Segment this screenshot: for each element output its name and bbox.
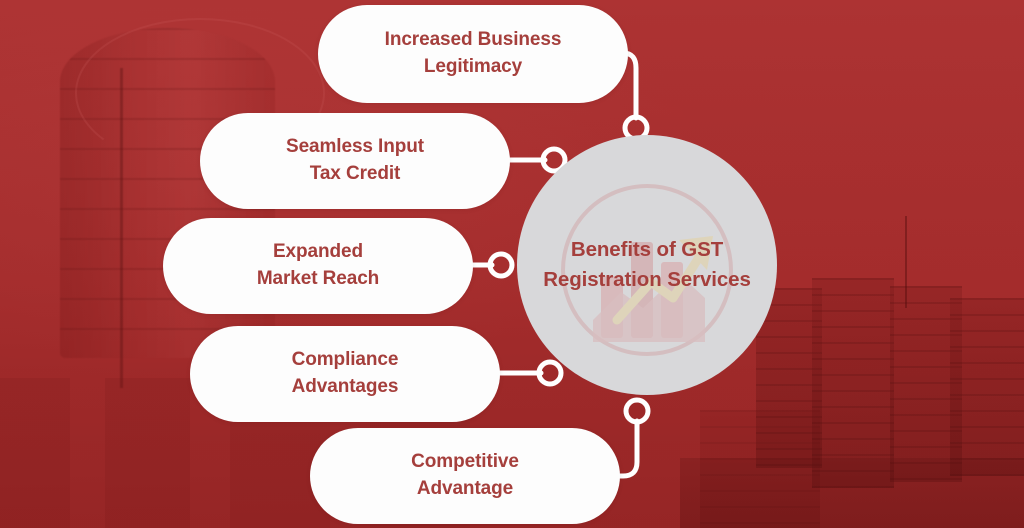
- benefit-pill-text-3: Expanded Market Reach: [205, 239, 431, 292]
- benefit-line-3a: Expanded: [231, 239, 405, 266]
- benefit-line-5a: Competitive: [385, 449, 545, 476]
- benefit-pill-text-5: Competitive Advantage: [359, 449, 571, 502]
- center-hub-circle: Benefits of GST Registration Services: [517, 135, 777, 395]
- benefit-pill-increased-business-legitimacy[interactable]: Increased Business Legitimacy: [318, 5, 628, 103]
- benefit-pill-competitive-advantage[interactable]: Competitive Advantage: [310, 428, 620, 524]
- benefit-pill-expanded-market-reach[interactable]: Expanded Market Reach: [163, 218, 473, 314]
- infographic-canvas: Benefits of GST Registration Services In…: [0, 0, 1024, 528]
- benefit-line-1b: Legitimacy: [359, 54, 588, 81]
- benefit-pill-text-2: Seamless Input Tax Credit: [234, 134, 476, 187]
- center-hub-title: Benefits of GST Registration Services: [535, 235, 759, 294]
- benefit-line-4a: Compliance: [266, 347, 425, 374]
- benefit-line-5b: Advantage: [385, 476, 545, 503]
- benefit-line-4b: Advantages: [266, 374, 425, 401]
- benefit-line-2b: Tax Credit: [260, 161, 450, 188]
- benefit-pill-compliance-advantages[interactable]: Compliance Advantages: [190, 326, 500, 422]
- benefit-line-2a: Seamless Input: [260, 134, 450, 161]
- center-hub-title-line1: Benefits of GST: [543, 235, 751, 265]
- benefit-line-3b: Market Reach: [231, 266, 405, 293]
- center-hub-title-line2: Registration Services: [543, 265, 751, 295]
- benefit-pill-text-1: Increased Business Legitimacy: [333, 27, 614, 80]
- benefit-pill-text-4: Compliance Advantages: [240, 347, 451, 400]
- benefit-line-1a: Increased Business: [359, 27, 588, 54]
- benefit-pill-seamless-input-tax-credit[interactable]: Seamless Input Tax Credit: [200, 113, 510, 209]
